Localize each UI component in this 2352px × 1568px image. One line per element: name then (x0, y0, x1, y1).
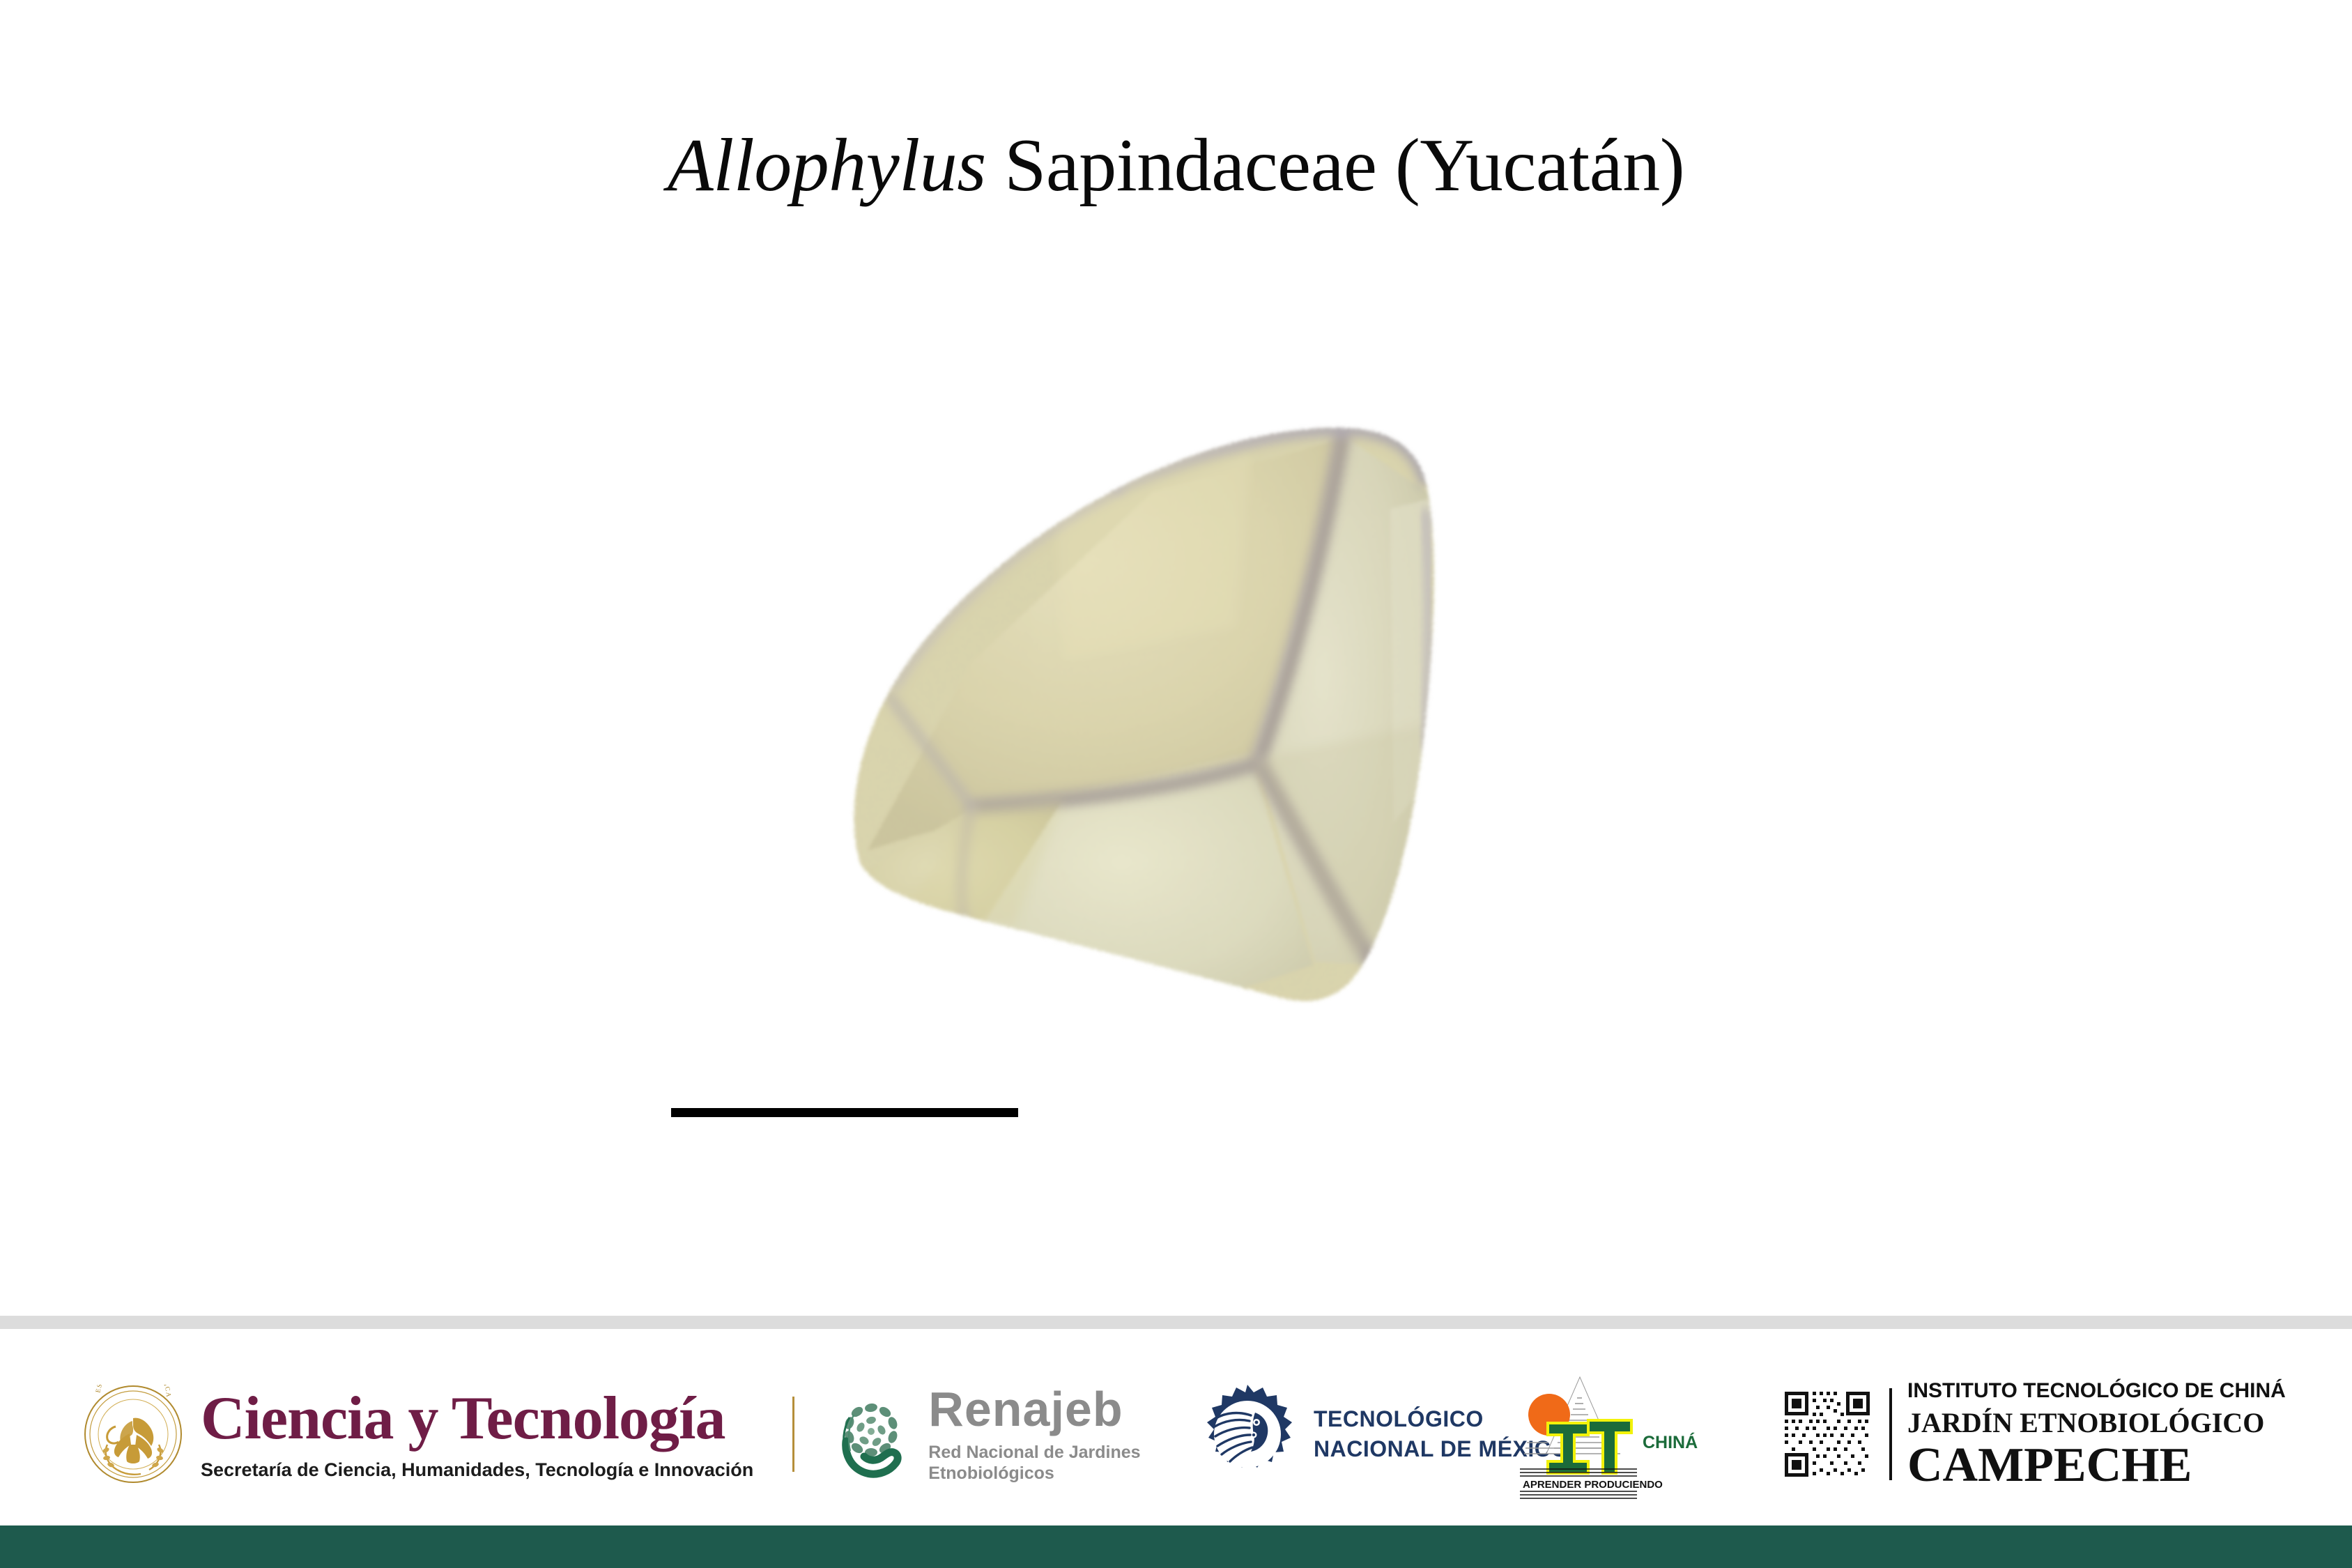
scale-bar-line (671, 1108, 1018, 1117)
qr-code-icon (1781, 1388, 1874, 1481)
renajeb-text-block: Renajeb Red Nacional de Jardines Etnobio… (928, 1385, 1140, 1484)
title-family-locality: Sapindaceae (Yucatán) (986, 124, 1684, 207)
jeb-line-2: JARDÍN ETNOBIOLÓGICO (1907, 1406, 2286, 1439)
footer-logo-divider (792, 1397, 794, 1472)
logo-row: ESTADOS UNIDOS MEXICANOS (84, 1347, 2268, 1521)
title-area: Allophylus Sapindaceae (Yucatán) (0, 124, 2352, 208)
logo-jardin-etnobiologico-campeche: INSTITUTO TECNOLÓGICO DE CHINÁ JARDÍN ET… (1781, 1379, 2268, 1490)
scale-bar (671, 1108, 1020, 1119)
footer-top-rule (0, 1316, 2352, 1329)
footer-bottom-bar (0, 1525, 2352, 1568)
tecnm-gear-warrior-icon (1195, 1382, 1300, 1486)
logo-renajeb: Renajeb Red Nacional de Jardines Etnobio… (827, 1385, 1181, 1484)
footer: ESTADOS UNIDOS MEXICANOS (0, 1316, 2352, 1568)
jeb-line-3: CAMPECHE (1907, 1441, 2286, 1490)
jeb-line-1: INSTITUTO TECNOLÓGICO DE CHINÁ (1907, 1379, 2286, 1403)
logo-it-china: CHINÁ APRENDER PRODUCIENDO (1516, 1365, 1704, 1504)
ciencia-y-tecnologia-wordmark: Ciencia y Tecnología (201, 1388, 753, 1450)
jeb-text-block: INSTITUTO TECNOLÓGICO DE CHINÁ JARDÍN ET… (1907, 1379, 2286, 1490)
logo-ciencia-y-tecnologia: ESTADOS UNIDOS MEXICANOS (84, 1385, 780, 1484)
svg-text:CHINÁ: CHINÁ (1643, 1432, 1698, 1452)
secretaria-subtitle: Secretaría de Ciencia, Humanidades, Tecn… (201, 1459, 753, 1481)
gobmx-text-block: Ciencia y Tecnología Secretaría de Cienc… (201, 1388, 753, 1481)
renajeb-subtitle: Red Nacional de Jardines Etnobiológicos (928, 1442, 1140, 1484)
page-title: Allophylus Sapindaceae (Yucatán) (0, 124, 2352, 208)
renajeb-wordmark: Renajeb (928, 1385, 1140, 1434)
renajeb-seed-hand-icon (827, 1390, 916, 1479)
svg-text:APRENDER PRODUCIENDO: APRENDER PRODUCIENDO (1523, 1479, 1663, 1491)
mexican-coat-of-arms-icon: ESTADOS UNIDOS MEXICANOS (84, 1385, 183, 1484)
pollen-grain-image (763, 335, 1474, 1017)
jeb-vertical-rule (1889, 1388, 1892, 1480)
logo-tecnm: TECNOLÓGICO NACIONAL DE MÉXICO® (1195, 1382, 1509, 1486)
title-genus: Allophylus (668, 124, 986, 207)
micrograph-stage (0, 293, 2352, 1045)
footer-logo-band: ESTADOS UNIDOS MEXICANOS (0, 1329, 2352, 1525)
